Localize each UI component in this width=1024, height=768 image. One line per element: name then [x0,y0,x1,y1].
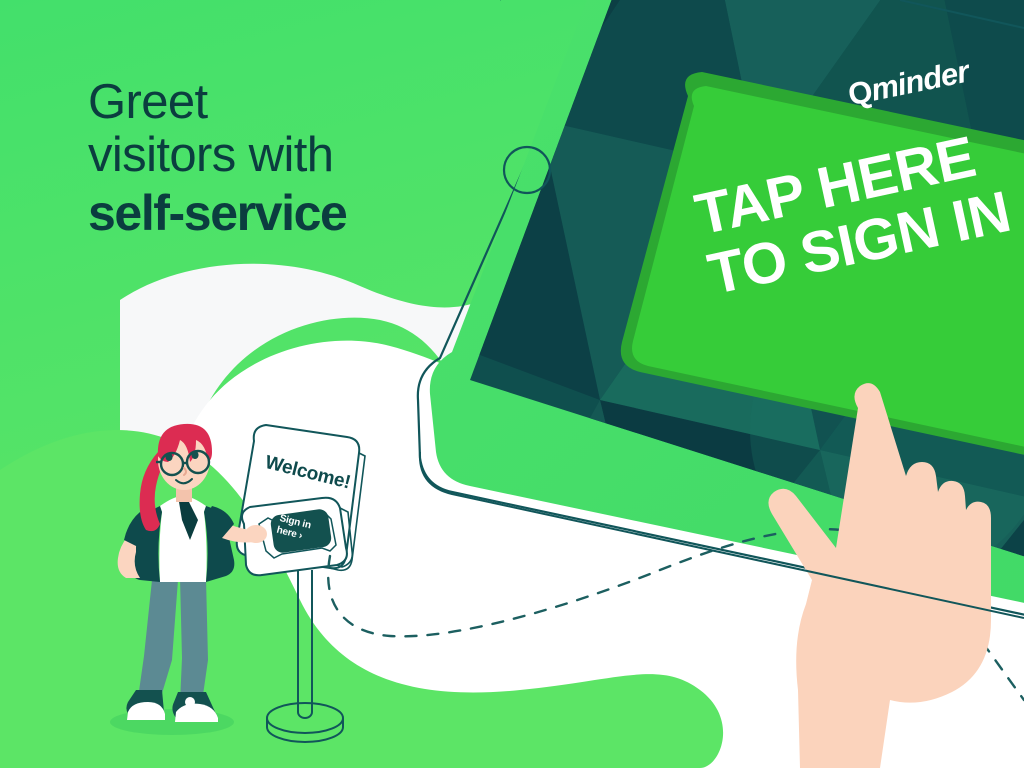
promo-banner: Greet visitors with self-service Qminder… [0,0,1024,768]
kiosk-signin-button[interactable] [270,508,333,554]
character-leg-front [180,578,208,702]
scene-artwork [0,0,1024,768]
character-hand-right [245,525,267,543]
